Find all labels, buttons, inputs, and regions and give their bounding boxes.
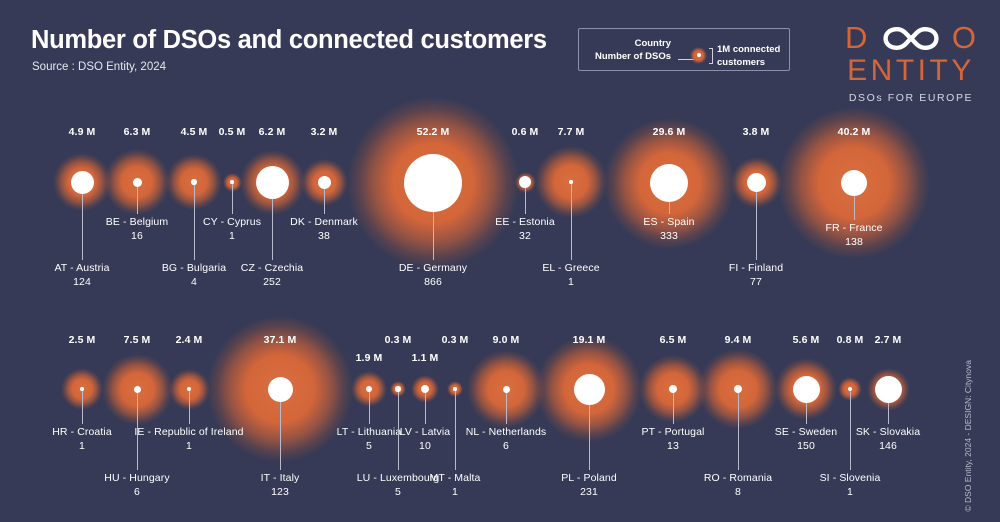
connector-line <box>854 195 855 220</box>
connector-line <box>506 392 507 425</box>
country-name: HU - Hungary <box>104 472 169 484</box>
customers-value-label: 1.1 M <box>365 352 485 364</box>
bubble-core-dsos <box>747 173 766 192</box>
dso-count: 1 <box>89 440 289 454</box>
bubble-core-dsos <box>793 376 820 403</box>
country-name: NL - Netherlands <box>466 426 547 438</box>
bubble-core-dsos <box>187 387 191 391</box>
bubble-core-dsos <box>734 385 742 393</box>
bubble-core-dsos <box>256 166 289 199</box>
bubble-core-dsos <box>230 180 234 184</box>
bubble-core-dsos <box>404 154 462 212</box>
country-name: SK - Slovakia <box>856 426 920 438</box>
dso-count: 38 <box>224 230 424 244</box>
connector-line <box>189 390 190 424</box>
country-label: EL - Greece1 <box>471 262 671 289</box>
bubble-core-dsos <box>574 374 605 405</box>
bubble-core-dsos <box>669 385 677 393</box>
country-name: DK - Denmark <box>290 216 358 228</box>
country-name: PL - Poland <box>561 472 617 484</box>
country-name: IT - Italy <box>261 472 300 484</box>
connector-line <box>137 186 138 215</box>
bubble-core-dsos <box>395 386 401 392</box>
country-name: FI - Finland <box>729 262 783 274</box>
country-label: SK - Slovakia146 <box>788 426 988 453</box>
bubble-core-dsos <box>519 176 531 188</box>
connector-line <box>806 402 807 425</box>
country-name: CZ - Czechia <box>241 262 303 274</box>
country-label: ES - Spain333 <box>569 216 769 243</box>
country-label: SI - Slovenia1 <box>750 472 950 499</box>
connector-line <box>369 391 370 424</box>
country-label: IE - Republic of Ireland1 <box>89 426 289 453</box>
connector-line <box>82 390 83 424</box>
country-name: ES - Spain <box>643 216 694 228</box>
connector-line <box>232 183 233 214</box>
country-label: FI - Finland77 <box>656 262 856 289</box>
customers-value-label: 37.1 M <box>220 334 340 346</box>
dso-count: 146 <box>788 440 988 454</box>
connector-line <box>525 187 526 214</box>
bubble-core-dsos <box>71 171 94 194</box>
country-label: FR - France138 <box>754 222 954 249</box>
dso-count: 1 <box>471 276 671 290</box>
bubble-core-dsos <box>503 386 510 393</box>
customers-value-label: 3.2 M <box>264 126 384 138</box>
connector-line <box>888 402 889 425</box>
customers-value-label: 40.2 M <box>794 126 914 138</box>
bubble-core-dsos <box>133 178 142 187</box>
connector-line <box>673 392 674 424</box>
dso-count: 138 <box>754 236 954 250</box>
bubble-core-dsos <box>421 385 429 393</box>
country-label: DK - Denmark38 <box>224 216 424 243</box>
bubble-core-dsos <box>268 377 293 402</box>
bubble-core-dsos <box>841 170 867 196</box>
bubble-core-dsos <box>191 179 197 185</box>
bubble-core-dsos <box>366 386 372 392</box>
dso-count: 333 <box>569 230 769 244</box>
bubble-core-dsos <box>318 176 331 189</box>
bubble-core-dsos <box>650 164 688 202</box>
country-name: IE - Republic of Ireland <box>134 426 243 438</box>
country-name: MT - Malta <box>430 472 481 484</box>
country-name: EL - Greece <box>542 262 599 274</box>
bubble-core-dsos <box>134 386 141 393</box>
connector-line <box>669 201 670 214</box>
bubble-core-dsos <box>875 376 902 403</box>
bubble-core-dsos <box>848 387 852 391</box>
customers-value-label: 2.7 M <box>828 334 948 346</box>
country-name: SI - Slovenia <box>820 472 881 484</box>
bubble-core-dsos <box>453 387 457 391</box>
bubble-core-dsos <box>569 180 573 184</box>
connector-line <box>324 188 325 215</box>
country-name: EE - Estonia <box>495 216 555 228</box>
bubble-chart: 4.9 MAT - Austria1246.3 MBE - Belgium164… <box>0 0 1000 522</box>
country-name: FR - France <box>825 222 882 234</box>
country-name: DE - Germany <box>399 262 467 274</box>
country-name: PT - Portugal <box>642 426 705 438</box>
connector-line <box>425 392 426 424</box>
dso-count: 1 <box>750 486 950 500</box>
bubble-core-dsos <box>80 387 84 391</box>
dso-count: 77 <box>656 276 856 290</box>
